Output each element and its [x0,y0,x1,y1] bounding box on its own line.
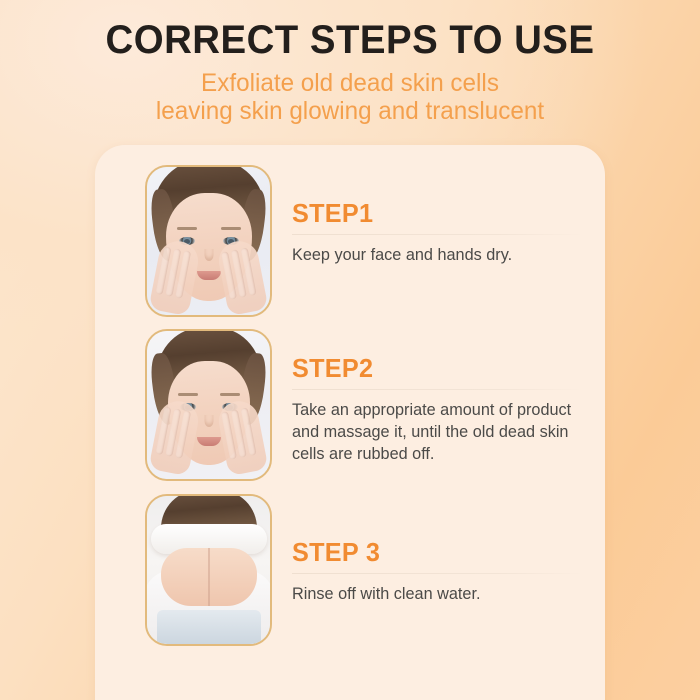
steps-card: STEP1 Keep your face and hands dry. [95,145,605,700]
step-2-photo [145,329,272,481]
step-1-label: STEP1 [292,199,574,227]
step-1-divider [292,234,583,235]
subtitle-line-2: leaving skin glowing and translucent [11,97,690,125]
page-subtitle: Exfoliate old dead skin cells leaving sk… [11,69,690,125]
subtitle-line-1: Exfoliate old dead skin cells [11,69,690,97]
step-1-description: Keep your face and hands dry. [292,244,579,266]
page-title: CORRECT STEPS TO USE [14,17,686,63]
photo-illustration-step-2 [147,331,270,479]
step-1-photo [145,165,272,317]
photo-illustration-step-3 [147,496,270,644]
poster-header: CORRECT STEPS TO USE Exfoliate old dead … [0,0,700,125]
step-3-label: STEP 3 [292,538,574,566]
step-2-divider [292,389,583,390]
photo-illustration-step-1 [147,167,270,315]
list-item: STEP 3 Rinse off with clean water. [95,494,605,646]
list-item: STEP1 Keep your face and hands dry. [95,165,605,317]
step-3-description: Rinse off with clean water. [292,583,579,605]
step-3-text: STEP 3 Rinse off with clean water. [272,494,605,605]
step-3-divider [292,573,583,574]
step-2-label: STEP2 [292,354,574,382]
steps-list: STEP1 Keep your face and hands dry. [95,145,605,656]
step-3-photo [145,494,272,646]
step-2-text: STEP2 Take an appropriate amount of prod… [272,329,605,465]
promo-poster: CORRECT STEPS TO USE Exfoliate old dead … [0,0,700,700]
list-item: STEP2 Take an appropriate amount of prod… [95,329,605,481]
step-2-description: Take an appropriate amount of product an… [292,399,579,465]
step-1-text: STEP1 Keep your face and hands dry. [272,165,605,266]
